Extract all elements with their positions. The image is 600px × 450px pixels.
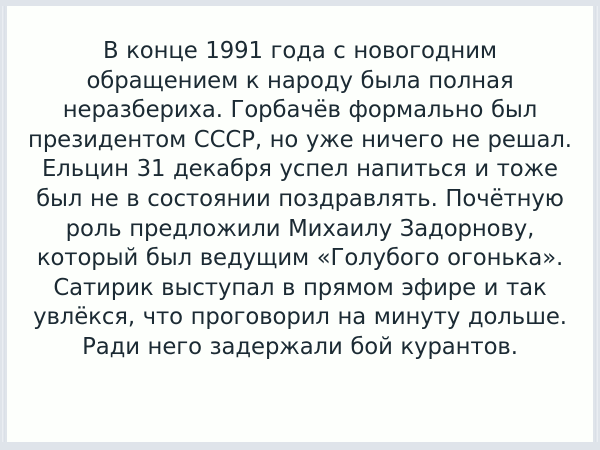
quote-line: был не в состоянии поздравлять. Почётную bbox=[22, 184, 578, 214]
quote-line: неразбериха. Горбачёв формально был bbox=[22, 95, 578, 125]
quote-line: В конце 1991 года с новогодним bbox=[22, 36, 578, 66]
quote-line: президентом СССР, но уже ничего не решал… bbox=[22, 125, 578, 155]
quote-line: увлёкся, что проговорил на минуту дольше… bbox=[22, 302, 578, 332]
text-card-frame: В конце 1991 года с новогодним обращение… bbox=[0, 0, 600, 450]
quote-text-block: В конце 1991 года с новогодним обращение… bbox=[13, 36, 587, 362]
quote-line: который был ведущим «Голубого огонька». bbox=[22, 243, 578, 273]
quote-line: Сатирик выступал в прямом эфире и так bbox=[22, 273, 578, 303]
quote-line: Ельцин 31 декабря успел напиться и тоже bbox=[22, 154, 578, 184]
quote-line: Ради него задержали бой курантов. bbox=[22, 332, 578, 362]
quote-line: обращением к народу была полная bbox=[22, 66, 578, 96]
text-card-body: В конце 1991 года с новогодним обращение… bbox=[7, 6, 593, 442]
quote-line: роль предложили Михаилу Задорнову, bbox=[22, 214, 578, 244]
